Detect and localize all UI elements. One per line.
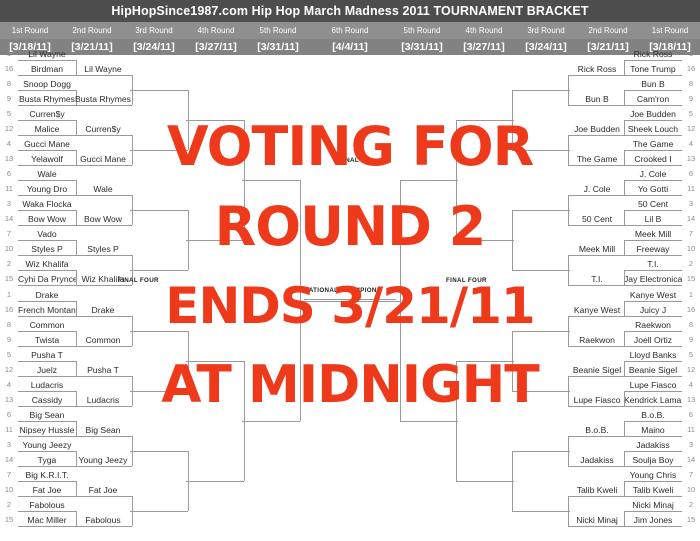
right-top-r2-name-7[interactable]: T.I.: [568, 273, 626, 285]
left-bottom-r3-name-2[interactable]: [130, 439, 188, 451]
right-bottom-r4-name-0[interactable]: [456, 349, 514, 361]
left-top-r4-name-1[interactable]: [186, 228, 244, 240]
left-bottom-r1-name-11[interactable]: Tyga: [18, 454, 76, 466]
left-top-r1-name-14[interactable]: Wiz Khalifa: [18, 258, 76, 270]
r2-underline: [74, 436, 132, 437]
r3-underline: [512, 451, 570, 452]
left-bottom-r1-name-10[interactable]: Young Jeezy: [18, 439, 76, 451]
right-top-r3-name-1[interactable]: [512, 138, 570, 150]
left-bottom-r3-name-3[interactable]: [130, 499, 188, 511]
r1-underline: [624, 361, 682, 362]
r1-underline: [18, 165, 76, 166]
right-bottom-r2-name-7[interactable]: Nicki Minaj: [568, 514, 626, 526]
left-final-feed: [300, 301, 352, 302]
round-date-9: [3/24/11]: [512, 39, 580, 55]
r1-underline: [624, 391, 682, 392]
r1-underline: [624, 135, 682, 136]
right-top-r1-name-11[interactable]: Lil B: [624, 213, 682, 225]
round-label-7: 5th Round: [388, 22, 456, 39]
r2-underline: [74, 225, 132, 226]
right-top-r1-name-9[interactable]: Yo Gotti: [624, 183, 682, 195]
r3-underline: [512, 210, 570, 211]
r3-underline: [130, 511, 188, 512]
r1-underline: [18, 210, 76, 211]
r2-underline: [568, 376, 626, 377]
right-bottom-r3-name-2[interactable]: [512, 439, 570, 451]
right-top-r1-seed-12: 7: [684, 228, 698, 240]
left-bottom-r1-name-14[interactable]: Fabolous: [18, 499, 76, 511]
left-top-r1-name-0[interactable]: Lil Wayne: [18, 48, 76, 60]
round-label-1: 1st Round: [0, 22, 64, 39]
left-top-r2-name-2[interactable]: Curren$y: [74, 123, 132, 135]
left-bottom-r3-name-0[interactable]: [130, 319, 188, 331]
left-bottom-r1-name-3[interactable]: Twista: [18, 334, 76, 346]
right-bottom-r1-name-5[interactable]: Beanie Sigel: [624, 364, 682, 376]
right-top-r1-seed-0: 1: [684, 48, 698, 60]
r1-underline: [18, 270, 76, 271]
left-bottom-r1-seed-2: 8: [2, 319, 16, 331]
r5-underline: [400, 421, 458, 422]
right-bottom-r1-seed-1: 16: [684, 304, 698, 316]
r2-underline: [568, 285, 626, 286]
r1-underline: [624, 60, 682, 61]
left-bottom-r1-name-1[interactable]: French Montana: [18, 304, 76, 316]
r1-underline: [18, 316, 76, 317]
left-top-r1-seed-4: 5: [2, 108, 16, 120]
round-label-10: 2nd Round: [574, 22, 642, 39]
right-bottom-r1-seed-10: 3: [684, 439, 698, 451]
right-top-r1-name-6[interactable]: The Game: [624, 138, 682, 150]
r1-underline: [624, 90, 682, 91]
right-top-r1-name-3[interactable]: Cam'ron: [624, 93, 682, 105]
r2-underline: [568, 135, 626, 136]
left-top-r1-name-10[interactable]: Waka Flocka: [18, 198, 76, 210]
left-top-r1-name-9[interactable]: Young Dro: [18, 183, 76, 195]
left-top-r3-name-3[interactable]: [130, 258, 188, 270]
r1-underline: [624, 466, 682, 467]
left-bottom-r2-name-1[interactable]: Common: [74, 334, 132, 346]
r1-underline: [18, 421, 76, 422]
right-bottom-r2-name-5[interactable]: Jadakiss: [568, 454, 626, 466]
r3-underline: [130, 331, 188, 332]
right-top-r2-name-5[interactable]: 50 Cent: [568, 213, 626, 225]
left-top-r1-seed-6: 4: [2, 138, 16, 150]
r2-underline: [568, 165, 626, 166]
r3-underline: [512, 511, 570, 512]
r5-underline: [400, 180, 458, 181]
left-top-r1-seed-7: 13: [2, 153, 16, 165]
r1-underline: [18, 90, 76, 91]
r1-underline: [18, 285, 76, 286]
right-top-r1-name-14[interactable]: T.I.: [624, 258, 682, 270]
r3-underline: [512, 391, 570, 392]
r3-underline: [130, 210, 188, 211]
r4-underline: [456, 120, 514, 121]
right-final-feed: [348, 301, 400, 302]
right-bottom-r1-seed-6: 4: [684, 379, 698, 391]
r1-underline: [624, 451, 682, 452]
left-bottom-r2-name-4[interactable]: Big Sean: [74, 424, 132, 436]
r2-underline: [74, 75, 132, 76]
r1-underline: [624, 210, 682, 211]
round-date-7: [3/31/11]: [388, 39, 456, 55]
right-top-r3-name-0[interactable]: [512, 78, 570, 90]
right-bottom-r1-seed-7: 13: [684, 394, 698, 406]
r1-underline: [624, 75, 682, 76]
left-top-r2-name-6[interactable]: Styles P: [74, 243, 132, 255]
left-bottom-r1-name-2[interactable]: Common: [18, 319, 76, 331]
right-top-r1-seed-5: 12: [684, 123, 698, 135]
r1-underline: [624, 120, 682, 121]
left-bottom-r5-name-0[interactable]: [242, 409, 300, 421]
left-top-r1-seed-12: 7: [2, 228, 16, 240]
r2-underline: [74, 346, 132, 347]
r1-underline: [18, 406, 76, 407]
right-bottom-r2-name-4[interactable]: B.o.B.: [568, 424, 626, 436]
left-top-r1-name-3[interactable]: Busta Rhymes: [18, 93, 76, 105]
right-top-r2-name-0[interactable]: Rick Ross: [568, 63, 626, 75]
right-bottom-r1-name-15[interactable]: Jim Jones: [624, 514, 682, 526]
left-top-r1-seed-5: 12: [2, 123, 16, 135]
right-bottom-r2-name-2[interactable]: Beanie Sigel: [568, 364, 626, 376]
left-bottom-r2-name-6[interactable]: Fat Joe: [74, 484, 132, 496]
right-bottom-r1-name-1[interactable]: Juicy J: [624, 304, 682, 316]
left-bottom-r1-seed-8: 6: [2, 409, 16, 421]
r1-underline: [18, 120, 76, 121]
r1-underline: [18, 240, 76, 241]
champion-underline: [304, 299, 396, 300]
left-bottom-r1-seed-14: 2: [2, 499, 16, 511]
r3-underline: [130, 90, 188, 91]
left-top-r3-name-2[interactable]: [130, 198, 188, 210]
right-top-r1-name-8[interactable]: J. Cole: [624, 168, 682, 180]
left-top-r1-name-12[interactable]: Vado: [18, 228, 76, 240]
left-bottom-r1-name-7[interactable]: Cassidy: [18, 394, 76, 406]
caption-final-four-right: FINAL FOUR: [446, 277, 487, 284]
right-top-r1-name-13[interactable]: Freeway: [624, 243, 682, 255]
right-bottom-r1-name-8[interactable]: B.o.B.: [624, 409, 682, 421]
r1-underline: [18, 150, 76, 151]
left-bottom-r1-name-4[interactable]: Pusha T: [18, 349, 76, 361]
left-bottom-r2-name-0[interactable]: Drake: [74, 304, 132, 316]
right-top-r4-name-0[interactable]: [456, 108, 514, 120]
right-bottom-r3-name-1[interactable]: [512, 379, 570, 391]
left-top-r1-seed-11: 14: [2, 213, 16, 225]
right-top-r1-seed-3: 9: [684, 93, 698, 105]
left-bottom-r1-seed-3: 9: [2, 334, 16, 346]
round-date-5: [3/31/11]: [244, 39, 312, 55]
round-label-4: 4th Round: [182, 22, 250, 39]
left-top-r1-seed-1: 16: [2, 63, 16, 75]
right-top-r2-name-6[interactable]: Meek Mill: [568, 243, 626, 255]
left-bottom-r2-name-2[interactable]: Pusha T: [74, 364, 132, 376]
r1-underline: [624, 496, 682, 497]
left-bottom-r1-seed-4: 5: [2, 349, 16, 361]
right-bottom-r1-seed-2: 8: [684, 319, 698, 331]
round-date-6: [4/4/11]: [316, 39, 384, 55]
right-bottom-r2-name-0[interactable]: Kanye West: [568, 304, 626, 316]
caption-final: FINAL: [339, 157, 359, 164]
bracket-header: HipHopSince1987.com Hip Hop March Madnes…: [0, 0, 700, 55]
r1-underline: [624, 195, 682, 196]
r1-underline: [18, 105, 76, 106]
right-top-r1-seed-4: 5: [684, 108, 698, 120]
left-bottom-r1-seed-0: 1: [2, 289, 16, 301]
right-top-r1-name-10[interactable]: 50 Cent: [624, 198, 682, 210]
right-bottom-r1-name-12[interactable]: Young Chris: [624, 469, 682, 481]
left-top-r1-seed-14: 2: [2, 258, 16, 270]
r2-underline: [568, 406, 626, 407]
r2-underline: [568, 466, 626, 467]
caption-national-champion: NATIONAL CHAMPION: [304, 287, 377, 294]
r1-underline: [624, 255, 682, 256]
left-bottom-r1-seed-10: 3: [2, 439, 16, 451]
r1-underline: [624, 150, 682, 151]
left-top-r4-name-0[interactable]: [186, 108, 244, 120]
r3-underline: [512, 270, 570, 271]
right-top-r1-seed-7: 13: [684, 153, 698, 165]
right-top-r1-seed-10: 3: [684, 198, 698, 210]
r4-underline: [186, 240, 244, 241]
round-label-5: 5th Round: [244, 22, 312, 39]
right-bottom-r1-seed-12: 7: [684, 469, 698, 481]
right-bottom-r1-name-2[interactable]: Raekwon: [624, 319, 682, 331]
r2-underline: [74, 316, 132, 317]
r2-underline: [568, 225, 626, 226]
left-bottom-r1-seed-6: 4: [2, 379, 16, 391]
left-top-r1-name-13[interactable]: Styles P: [18, 243, 76, 255]
left-top-r1-name-2[interactable]: Snoop Dogg: [18, 78, 76, 90]
left-top-r1-name-1[interactable]: Birdman: [18, 63, 76, 75]
left-bottom-r1-seed-1: 16: [2, 304, 16, 316]
right-bottom-r1-seed-3: 9: [684, 334, 698, 346]
right-top-r2-name-2[interactable]: Joe Budden: [568, 123, 626, 135]
left-bottom-r1-seed-15: 15: [2, 514, 16, 526]
left-top-r3-name-1[interactable]: [130, 138, 188, 150]
right-bottom-r1-seed-5: 12: [684, 364, 698, 376]
left-bottom-r2-name-5[interactable]: Young Jeezy: [74, 454, 132, 466]
r2-underline: [74, 406, 132, 407]
right-top-r1-name-0[interactable]: Rick Ross: [624, 48, 682, 60]
right-bottom-r2-name-1[interactable]: Raekwon: [568, 334, 626, 346]
r2-underline: [74, 526, 132, 527]
left-top-r1-seed-2: 8: [2, 78, 16, 90]
r2-underline: [74, 105, 132, 106]
r1-underline: [18, 180, 76, 181]
round-label-11: 1st Round: [636, 22, 700, 39]
left-top-r1-name-15[interactable]: Cyhi Da Prynce: [18, 273, 76, 285]
r3-underline: [512, 150, 570, 151]
left-top-r2-name-4[interactable]: Wale: [74, 183, 132, 195]
left-bottom-r1-name-9[interactable]: Nipsey Hussle: [18, 424, 76, 436]
round-date-4: [3/27/11]: [182, 39, 250, 55]
left-top-r1-seed-10: 3: [2, 198, 16, 210]
r1-underline: [18, 496, 76, 497]
left-top-r2-name-3[interactable]: Gucci Mane: [74, 153, 132, 165]
left-bottom-r4-name-0[interactable]: [186, 349, 244, 361]
bracket-page: HipHopSince1987.com Hip Hop March Madnes…: [0, 0, 700, 541]
left-top-r2-name-5[interactable]: Bow Wow: [74, 213, 132, 225]
left-bottom-r1-seed-9: 11: [2, 424, 16, 436]
left-top-r1-seed-3: 9: [2, 93, 16, 105]
r3-underline: [130, 391, 188, 392]
r1-underline: [18, 331, 76, 332]
left-bottom-r1-name-15[interactable]: Mac Miller: [18, 514, 76, 526]
r2-underline: [568, 526, 626, 527]
right-bottom-r1-name-4[interactable]: Lloyd Banks: [624, 349, 682, 361]
r1-underline: [624, 301, 682, 302]
right-bottom-r1-seed-8: 6: [684, 409, 698, 421]
r2-underline: [568, 346, 626, 347]
left-top-r2-name-0[interactable]: Lil Wayne: [74, 63, 132, 75]
right-top-r1-name-2[interactable]: Bun B: [624, 78, 682, 90]
right-bottom-r5-name-0[interactable]: [400, 409, 458, 421]
r1-underline: [18, 195, 76, 196]
left-bottom-r1-name-8[interactable]: Big Sean: [18, 409, 76, 421]
r1-underline: [18, 481, 76, 482]
r1-underline: [624, 240, 682, 241]
right-bottom-r1-seed-13: 10: [684, 484, 698, 496]
r2-underline: [74, 496, 132, 497]
r3-underline: [130, 150, 188, 151]
right-bottom-r1-name-0[interactable]: Kanye West: [624, 289, 682, 301]
right-bottom-r1-seed-0: 1: [684, 289, 698, 301]
right-top-r1-seed-13: 10: [684, 243, 698, 255]
left-bottom-r2-name-3[interactable]: Ludacris: [74, 394, 132, 406]
right-bottom-r1-seed-9: 11: [684, 424, 698, 436]
right-final-four-bridge: [400, 180, 401, 421]
left-top-r1-name-7[interactable]: Yelawolf: [18, 153, 76, 165]
r2-underline: [568, 105, 626, 106]
r2-underline: [568, 75, 626, 76]
right-bottom-r2-name-3[interactable]: Lupe Fiasco: [568, 394, 626, 406]
r2-underline: [74, 135, 132, 136]
right-top-r1-seed-11: 14: [684, 213, 698, 225]
right-bottom-r1-name-10[interactable]: Jadakiss: [624, 439, 682, 451]
left-bottom-r1-name-13[interactable]: Fat Joe: [18, 484, 76, 496]
right-bottom-r1-name-6[interactable]: Lupe Fiasco: [624, 379, 682, 391]
right-top-r1-name-7[interactable]: Crooked I: [624, 153, 682, 165]
r1-underline: [18, 376, 76, 377]
r1-underline: [624, 511, 682, 512]
r4-underline: [186, 481, 244, 482]
r2-underline: [568, 255, 626, 256]
r4-underline: [456, 240, 514, 241]
right-top-r1-name-15[interactable]: Jay Electronica: [624, 273, 682, 285]
r1-underline: [624, 406, 682, 407]
r1-underline: [18, 301, 76, 302]
r1-underline: [624, 105, 682, 106]
left-bottom-r4-name-1[interactable]: [186, 469, 244, 481]
right-top-r2-name-1[interactable]: Bun B: [568, 93, 626, 105]
r2-underline: [568, 195, 626, 196]
left-bottom-r1-seed-12: 7: [2, 469, 16, 481]
round-label-6: 6th Round: [316, 22, 384, 39]
left-top-r1-name-8[interactable]: Wale: [18, 168, 76, 180]
right-top-r3-name-2[interactable]: [512, 198, 570, 210]
r1-underline: [624, 225, 682, 226]
r1-underline: [18, 255, 76, 256]
r1-underline: [18, 135, 76, 136]
right-top-r4-name-1[interactable]: [456, 228, 514, 240]
page-title: HipHopSince1987.com Hip Hop March Madnes…: [0, 0, 700, 22]
r2-underline: [74, 165, 132, 166]
left-bottom-r1-name-6[interactable]: Ludacris: [18, 379, 76, 391]
right-bottom-r3-name-0[interactable]: [512, 319, 570, 331]
round-label-2: 2nd Round: [58, 22, 126, 39]
right-top-r2-name-4[interactable]: J. Cole: [568, 183, 626, 195]
left-top-r3-name-0[interactable]: [130, 78, 188, 90]
r1-underline: [18, 526, 76, 527]
right-top-r1-seed-2: 8: [684, 78, 698, 90]
left-top-r1-name-4[interactable]: Curren$y: [18, 108, 76, 120]
r3-underline: [130, 270, 188, 271]
right-bottom-r1-name-3[interactable]: Joell Ortiz: [624, 334, 682, 346]
r4-underline: [186, 361, 244, 362]
right-bottom-r1-name-14[interactable]: Nicki Minaj: [624, 499, 682, 511]
left-top-r1-seed-0: 1: [2, 48, 16, 60]
right-bottom-r2-name-6[interactable]: Talib Kweli: [568, 484, 626, 496]
right-bottom-r1-seed-14: 2: [684, 499, 698, 511]
left-bottom-r1-name-0[interactable]: Drake: [18, 289, 76, 301]
right-bottom-r4-name-1[interactable]: [456, 469, 514, 481]
right-top-r5-name-0[interactable]: [400, 168, 458, 180]
right-top-r1-name-12[interactable]: Meek Mill: [624, 228, 682, 240]
right-bottom-r1-seed-4: 5: [684, 349, 698, 361]
r1-underline: [624, 346, 682, 347]
right-bottom-r1-name-9[interactable]: Maino: [624, 424, 682, 436]
r1-underline: [624, 526, 682, 527]
r1-underline: [18, 361, 76, 362]
left-bottom-r1-name-12[interactable]: Big K.R.I.T.: [18, 469, 76, 481]
right-top-r3-name-3[interactable]: [512, 258, 570, 270]
right-bottom-r3-name-3[interactable]: [512, 499, 570, 511]
right-top-r1-seed-6: 4: [684, 138, 698, 150]
left-bottom-r3-name-1[interactable]: [130, 379, 188, 391]
right-bottom-r1-name-13[interactable]: Talib Kweli: [624, 484, 682, 496]
right-bottom-r1-name-7[interactable]: Kendrick Lamar: [624, 394, 682, 406]
left-bottom-r1-seed-11: 14: [2, 454, 16, 466]
left-top-r1-name-6[interactable]: Gucci Mane: [18, 138, 76, 150]
left-bottom-r1-name-5[interactable]: Juelz: [18, 364, 76, 376]
right-top-r1-seed-8: 6: [684, 168, 698, 180]
left-top-r1-name-11[interactable]: Bow Wow: [18, 213, 76, 225]
right-bottom-r1-name-11[interactable]: Soulja Boy: [624, 454, 682, 466]
left-bottom-r1-seed-5: 12: [2, 364, 16, 376]
left-bottom-r2-name-7[interactable]: Fabolous: [74, 514, 132, 526]
r1-underline: [18, 436, 76, 437]
right-top-r1-name-1[interactable]: Tone Trump: [624, 63, 682, 75]
right-top-r1-name-4[interactable]: Joe Budden: [624, 108, 682, 120]
right-top-r2-name-3[interactable]: The Game: [568, 153, 626, 165]
right-top-r1-name-5[interactable]: Sheek Louch: [624, 123, 682, 135]
r1-underline: [624, 270, 682, 271]
round-dates-bar: [3/18/11][3/21/11][3/24/11][3/27/11][3/3…: [0, 39, 700, 55]
left-top-r1-seed-9: 11: [2, 183, 16, 195]
left-top-r2-name-1[interactable]: Busta Rhymes: [74, 93, 132, 105]
left-bottom-r1-seed-7: 13: [2, 394, 16, 406]
r2-underline: [568, 316, 626, 317]
r4-underline: [456, 481, 514, 482]
right-bottom-r1-seed-11: 14: [684, 454, 698, 466]
left-top-r1-name-5[interactable]: Malice: [18, 123, 76, 135]
r2-underline: [74, 466, 132, 467]
r3-underline: [512, 90, 570, 91]
round-label-8: 4th Round: [450, 22, 518, 39]
left-bottom-r1-seed-13: 10: [2, 484, 16, 496]
r1-underline: [18, 75, 76, 76]
left-top-r5-name-0[interactable]: [242, 168, 300, 180]
